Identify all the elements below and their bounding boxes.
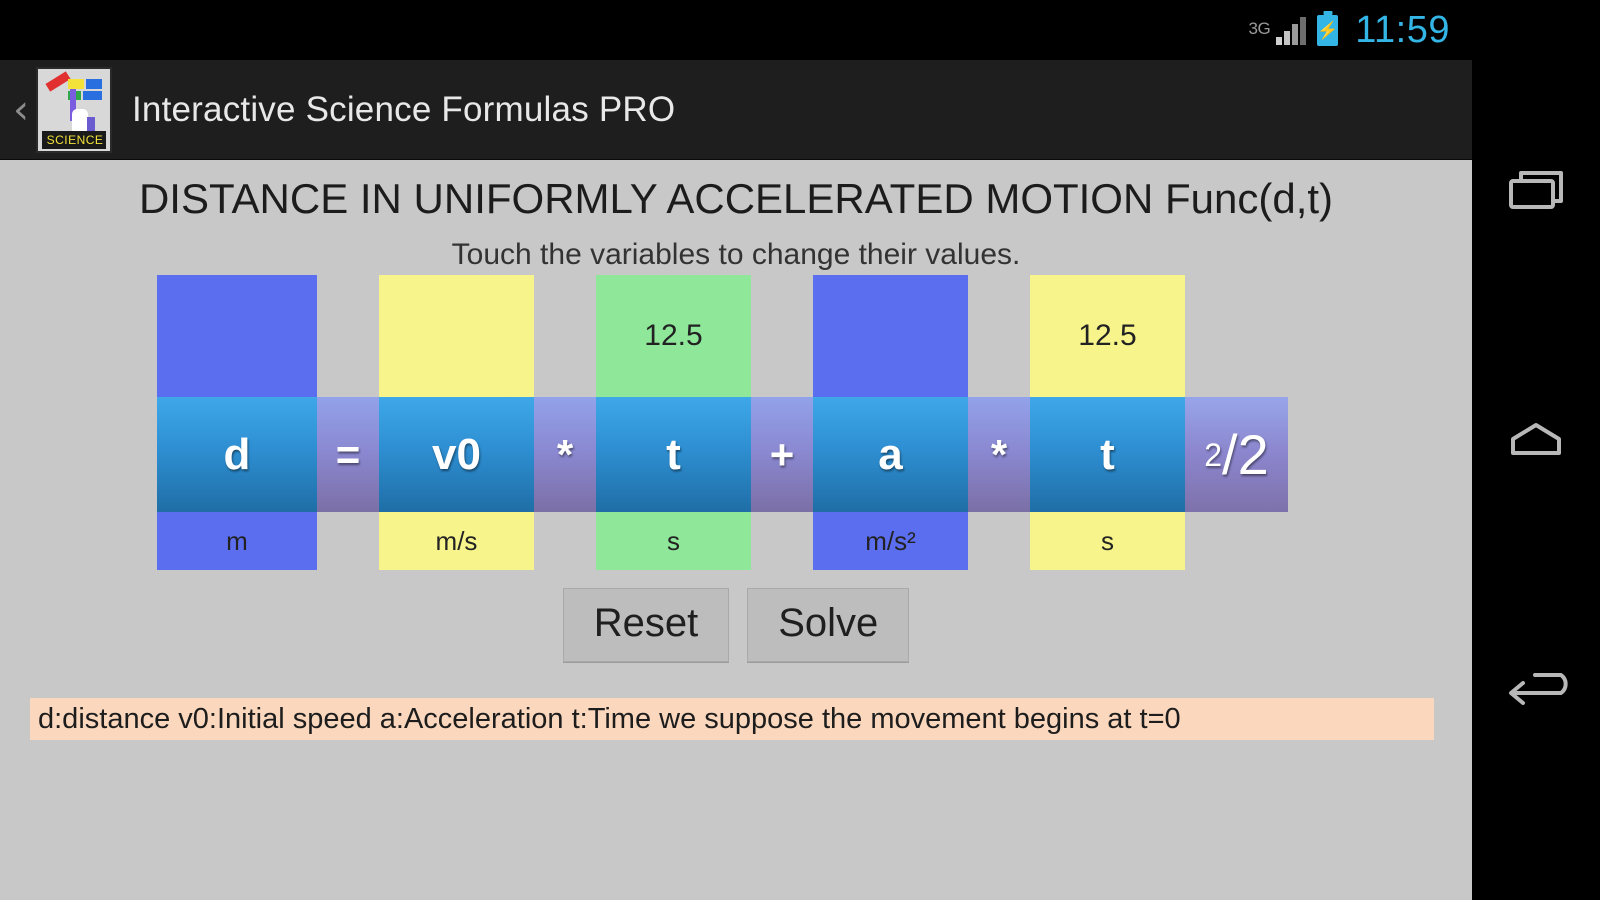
action-bar: ‹ SCIENCE Interactive Science Formulas P…: [0, 60, 1472, 160]
value-cell-multiply-2: [968, 275, 1030, 397]
button-row: Reset Solve: [0, 588, 1472, 662]
formula-column-squared-over-two: 2/2: [1185, 275, 1288, 570]
app-logo-icon[interactable]: SCIENCE: [36, 67, 112, 153]
app-icon-science-label: SCIENCE: [45, 133, 105, 147]
value-cell-d[interactable]: [157, 275, 317, 397]
value-cell-t1[interactable]: 12.5: [596, 275, 751, 397]
back-chevron-icon[interactable]: ‹: [8, 90, 34, 130]
back-button[interactable]: [1472, 624, 1600, 752]
formula-column-multiply-1: *: [534, 275, 596, 570]
value-cell-plus: [751, 275, 813, 397]
symbol-cell-t1[interactable]: t: [596, 397, 751, 512]
value-cell-t2[interactable]: 12.5: [1030, 275, 1185, 397]
value-cell-a[interactable]: [813, 275, 968, 397]
app-title: Interactive Science Formulas PRO: [132, 90, 675, 130]
network-type-label: 3G: [1249, 20, 1271, 37]
legend-bar: d:distance v0:Initial speed a:Accelerati…: [30, 698, 1434, 740]
formula-grid: d m = v0 m/s * 12.5: [157, 275, 1288, 570]
recents-icon: [1505, 163, 1567, 225]
divide-two-label: /2: [1222, 422, 1269, 487]
navigation-bar: [1472, 0, 1600, 900]
formula-column-a[interactable]: a m/s²: [813, 275, 968, 570]
symbol-cell-d[interactable]: d: [157, 397, 317, 512]
unit-cell-equals: [317, 512, 379, 570]
reset-button[interactable]: Reset: [563, 588, 730, 662]
formula-column-equals: =: [317, 275, 379, 570]
home-icon: [1505, 409, 1567, 471]
home-button[interactable]: [1472, 376, 1600, 504]
formula-column-t2[interactable]: 12.5 t s: [1030, 275, 1185, 570]
unit-cell-plus: [751, 512, 813, 570]
unit-cell-squared-over-two: [1185, 512, 1288, 570]
device-screen: 3G ⚡ 11:59 ‹ SCIENCE Interactive Science…: [0, 0, 1600, 900]
unit-cell-multiply-1: [534, 512, 596, 570]
symbol-cell-v0[interactable]: v0: [379, 397, 534, 512]
status-bar: 3G ⚡ 11:59: [0, 0, 1472, 60]
unit-cell-a: m/s²: [813, 512, 968, 570]
signal-bars-icon: [1276, 15, 1306, 45]
value-cell-v0[interactable]: [379, 275, 534, 397]
symbol-cell-multiply-2: *: [968, 397, 1030, 512]
unit-cell-t2: s: [1030, 512, 1185, 570]
formula-column-t1[interactable]: 12.5 t s: [596, 275, 751, 570]
value-cell-equals: [317, 275, 379, 397]
formula-column-v0[interactable]: v0 m/s: [379, 275, 534, 570]
formula-column-plus: +: [751, 275, 813, 570]
value-cell-squared-over-two: [1185, 275, 1288, 397]
solve-button[interactable]: Solve: [747, 588, 909, 662]
battery-charging-icon: ⚡: [1317, 15, 1338, 46]
recents-button[interactable]: [1472, 130, 1600, 258]
unit-cell-v0: m/s: [379, 512, 534, 570]
symbol-cell-plus: +: [751, 397, 813, 512]
symbol-cell-equals: =: [317, 397, 379, 512]
unit-cell-multiply-2: [968, 512, 1030, 570]
page-subtitle: Touch the variables to change their valu…: [0, 220, 1472, 270]
back-icon: [1501, 657, 1571, 719]
symbol-cell-a[interactable]: a: [813, 397, 968, 512]
status-bar-right-group: 3G ⚡ 11:59: [1249, 11, 1450, 49]
app-content: DISTANCE IN UNIFORMLY ACCELERATED MOTION…: [0, 160, 1472, 900]
symbol-cell-squared-over-two: 2/2: [1185, 397, 1288, 512]
legend-text: d:distance v0:Initial speed a:Accelerati…: [38, 703, 1181, 736]
unit-cell-d: m: [157, 512, 317, 570]
status-bar-clock: 11:59: [1355, 11, 1450, 49]
formula-column-d[interactable]: d m: [157, 275, 317, 570]
unit-cell-t1: s: [596, 512, 751, 570]
page-title: DISTANCE IN UNIFORMLY ACCELERATED MOTION…: [0, 160, 1472, 220]
formula-column-multiply-2: *: [968, 275, 1030, 570]
value-cell-multiply-1: [534, 275, 596, 397]
symbol-cell-multiply-1: *: [534, 397, 596, 512]
symbol-cell-t2[interactable]: t: [1030, 397, 1185, 512]
